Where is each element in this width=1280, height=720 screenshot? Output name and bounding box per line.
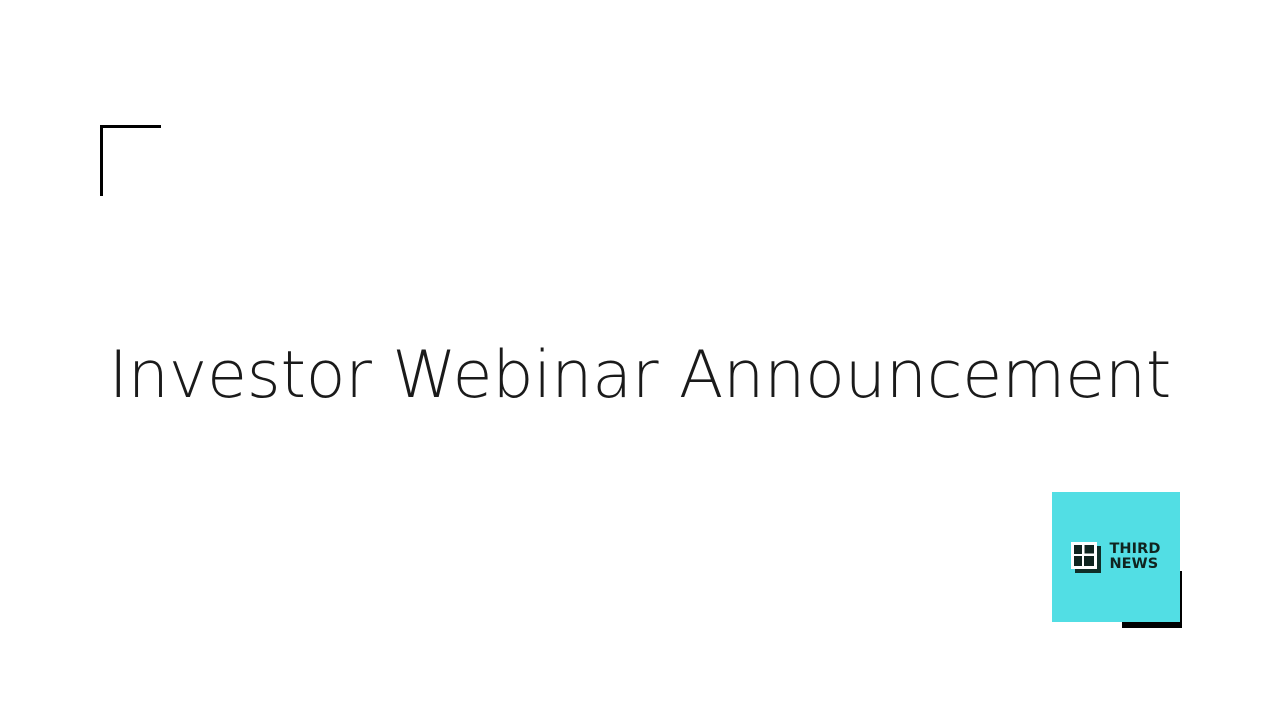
slide-canvas: Investor Webinar Announcement THIRD (0, 0, 1280, 720)
logo-wordmark-line-1: THIRD (1109, 542, 1160, 557)
logo-wordmark: THIRD NEWS (1109, 542, 1160, 572)
pane-top-left (1074, 545, 1082, 554)
newspaper-icon-frame (1071, 542, 1097, 569)
logo-lockup: THIRD NEWS (1052, 492, 1180, 622)
corner-bracket-decoration (100, 125, 161, 196)
pane-top-right (1084, 545, 1094, 554)
pane-bottom-left (1074, 556, 1082, 566)
pane-bottom-right (1084, 556, 1094, 566)
logo-badge[interactable]: THIRD NEWS (1052, 492, 1180, 622)
page-title: Investor Webinar Announcement (109, 339, 1171, 414)
newspaper-icon (1071, 542, 1101, 573)
logo-wordmark-line-2: NEWS (1109, 557, 1160, 572)
newspaper-icon-panes (1074, 545, 1094, 566)
title-block: Investor Webinar Announcement (0, 295, 1280, 457)
